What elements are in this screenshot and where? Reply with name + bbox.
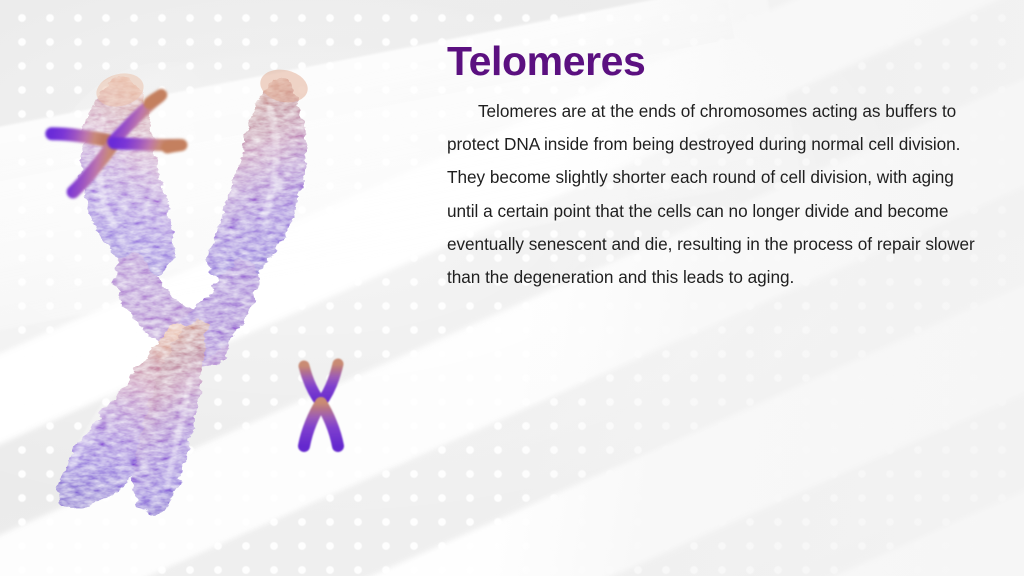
text-content-block: Telomeres Telomeres are at the ends of c… [447,36,981,294]
page-title: Telomeres [447,36,981,86]
slide-canvas: Telomeres Telomeres are at the ends of c… [0,0,1024,576]
body-paragraph: Telomeres are at the ends of chromosomes… [447,95,981,294]
small-chromosome-illustration [42,88,192,198]
mini-chromosome-illustration [290,356,352,454]
